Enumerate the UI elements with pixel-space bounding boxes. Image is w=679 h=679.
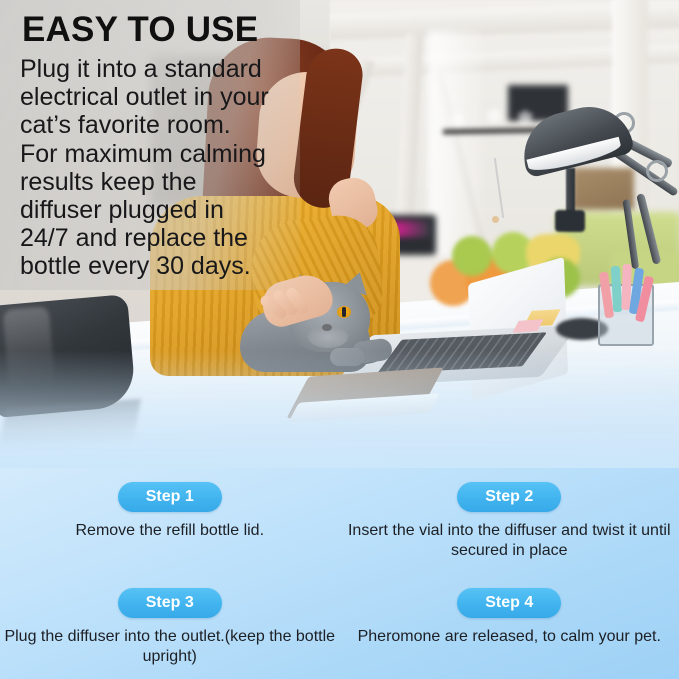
lamp-joint-lower [646, 160, 668, 182]
intro-paragraph: Plug it into a standard electrical outle… [20, 55, 272, 281]
snowflake-ornament-icon: ❄ [485, 104, 503, 130]
product-infographic-card: ❄ ❄ ❄ [0, 0, 679, 679]
step-badge-2: Step 2 [457, 482, 561, 512]
snowflake-ornament-icon: ❄ [448, 108, 466, 134]
snowflake-ornament-icon: ❄ [516, 106, 534, 132]
step-description-1: Remove the refill bottle lid. [2, 521, 338, 541]
photo-bottom-fade [0, 350, 679, 470]
step-item-4: Step 4 Pheromone are released, to calm y… [340, 574, 679, 679]
green-apple [452, 236, 492, 276]
cat-nose [322, 324, 332, 331]
step-badge-3: Step 3 [118, 588, 222, 618]
step-item-3: Step 3 Plug the diffuser into the outlet… [0, 574, 340, 679]
page-title: EASY TO USE [22, 10, 258, 50]
cat-eye-right [337, 306, 351, 318]
step-badge-4: Step 4 [457, 588, 561, 618]
step-badge-1: Step 1 [118, 482, 222, 512]
step-item-1: Step 1 Remove the refill bottle lid. [0, 468, 340, 574]
step-description-4: Pheromone are released, to calm your pet… [346, 627, 672, 647]
step-description-2: Insert the vial into the diffuser and tw… [346, 521, 672, 560]
lamp-clamp [555, 210, 585, 232]
steps-grid: Step 1 Remove the refill bottle lid. Ste… [0, 468, 679, 679]
lamp-cord-tip [492, 216, 499, 223]
step-item-2: Step 2 Insert the vial into the diffuser… [340, 468, 679, 574]
step-description-3: Plug the diffuser into the outlet.(keep … [2, 627, 338, 666]
steps-panel: Step 1 Remove the refill bottle lid. Ste… [0, 468, 679, 679]
